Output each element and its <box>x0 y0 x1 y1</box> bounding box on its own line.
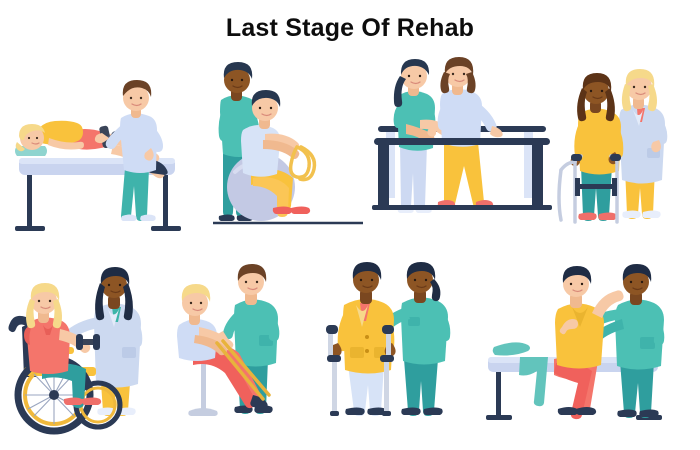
illustration-crutches-walking <box>322 243 477 433</box>
illustration-wheelchair-dumbbell <box>2 243 172 433</box>
patient-seated <box>554 266 624 419</box>
towel <box>519 357 548 406</box>
pillow <box>493 342 530 355</box>
illustration-exercise-ball-resistance-band <box>213 50 363 240</box>
illustration-page: Last Stage Of Rehab <box>0 0 700 450</box>
illustration-knee-brace-therapy <box>5 50 205 240</box>
page-title: Last Stage Of Rehab <box>0 14 700 43</box>
illustration-shoulder-stretch <box>482 243 692 433</box>
therapist-standing <box>95 80 163 221</box>
illustration-walker-assistance <box>553 50 693 240</box>
resistance-band <box>291 147 315 180</box>
illustration-leg-resistance-band <box>175 243 320 433</box>
therapist-standing <box>394 59 449 213</box>
illustration-parallel-bars-gait-training <box>372 50 552 240</box>
